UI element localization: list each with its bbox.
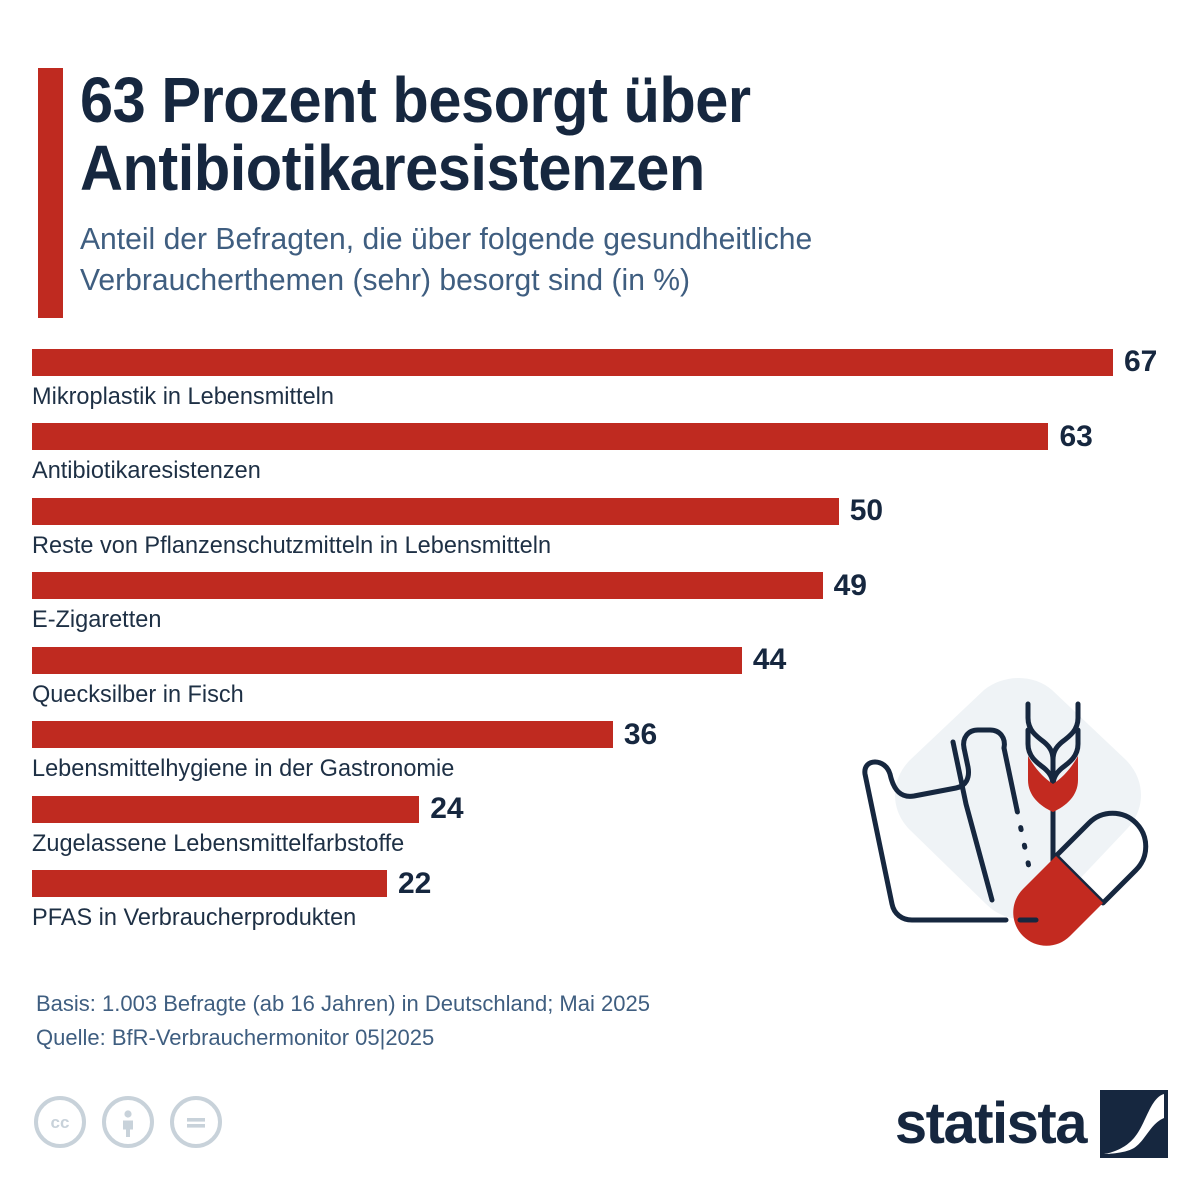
bar-category-label: Antibiotikaresistenzen bbox=[32, 458, 1149, 484]
bar-row: 24 Zugelassene Lebensmittelfarbstoffe bbox=[32, 796, 1172, 871]
attribution-icon[interactable] bbox=[102, 1096, 154, 1148]
bar-value: 63 bbox=[1059, 422, 1092, 452]
bar-category-label: Mikroplastik in Lebensmitteln bbox=[32, 384, 1149, 410]
bar-row: 50 Reste von Pflanzenschutzmitteln in Le… bbox=[32, 498, 1172, 573]
creative-commons-icon[interactable]: cc bbox=[34, 1096, 86, 1148]
bar-fill bbox=[32, 423, 1048, 450]
header-text-block: 63 Prozent besorgt über Antibiotikaresis… bbox=[80, 66, 1160, 301]
bar-fill bbox=[32, 796, 419, 823]
statista-logo-mark bbox=[1100, 1090, 1168, 1158]
source-note: Quelle: BfR-Verbrauchermonitor 05|2025 bbox=[36, 1021, 1200, 1055]
bar-row: 22 PFAS in Verbraucherprodukten bbox=[32, 870, 1172, 945]
bar-value: 50 bbox=[850, 496, 883, 526]
bar-chart: 67 Mikroplastik in Lebensmitteln 63 Anti… bbox=[32, 349, 1172, 945]
bar-track: 24 bbox=[32, 796, 1172, 823]
bar-row: 44 Quecksilber in Fisch bbox=[32, 647, 1172, 722]
bar-category-label: Quecksilber in Fisch bbox=[32, 682, 1149, 708]
basis-note: Basis: 1.003 Befragte (ab 16 Jahren) in … bbox=[36, 987, 1200, 1021]
bar-track: 44 bbox=[32, 647, 1172, 674]
bar-row: 49 E-Zigaretten bbox=[32, 572, 1172, 647]
bar-fill bbox=[32, 572, 823, 599]
license-badges: cc bbox=[34, 1096, 222, 1148]
bottom-bar: cc statista bbox=[0, 1082, 1200, 1178]
bar-category-label: PFAS in Verbraucherprodukten bbox=[32, 905, 1149, 931]
bar-value: 44 bbox=[753, 645, 786, 675]
footnotes: Basis: 1.003 Befragte (ab 16 Jahren) in … bbox=[36, 987, 1200, 1055]
bar-track: 63 bbox=[32, 423, 1172, 450]
bar-track: 49 bbox=[32, 572, 1172, 599]
bar-value: 22 bbox=[398, 869, 431, 899]
bar-fill bbox=[32, 721, 613, 748]
statista-logo[interactable]: statista bbox=[895, 1090, 1168, 1158]
bar-track: 67 bbox=[32, 349, 1172, 376]
bar-row: 36 Lebensmittelhygiene in der Gastronomi… bbox=[32, 721, 1172, 796]
bar-value: 49 bbox=[834, 571, 867, 601]
bar-track: 36 bbox=[32, 721, 1172, 748]
no-derivatives-icon[interactable] bbox=[170, 1096, 222, 1148]
bar-fill bbox=[32, 647, 742, 674]
bar-value: 67 bbox=[1124, 347, 1157, 377]
bar-category-label: Zugelassene Lebensmittelfarbstoffe bbox=[32, 831, 1149, 857]
bar-category-label: E-Zigaretten bbox=[32, 607, 1149, 633]
bar-row: 67 Mikroplastik in Lebensmitteln bbox=[32, 349, 1172, 424]
bar-category-label: Lebensmittelhygiene in der Gastronomie bbox=[32, 756, 1149, 782]
bar-fill bbox=[32, 349, 1113, 376]
bar-row: 63 Antibiotikaresistenzen bbox=[32, 423, 1172, 498]
statista-wordmark: statista bbox=[895, 1095, 1086, 1153]
bar-track: 22 bbox=[32, 870, 1172, 897]
page-subtitle: Anteil der Befragten, die über folgende … bbox=[80, 219, 1128, 301]
header: 63 Prozent besorgt über Antibiotikaresis… bbox=[0, 0, 1200, 301]
bar-value: 24 bbox=[430, 794, 463, 824]
bar-category-label: Reste von Pflanzenschutzmitteln in Leben… bbox=[32, 533, 1149, 559]
bar-track: 50 bbox=[32, 498, 1172, 525]
bar-value: 36 bbox=[624, 720, 657, 750]
page-title: 63 Prozent besorgt über Antibiotikaresis… bbox=[80, 66, 1084, 203]
bar-fill bbox=[32, 870, 387, 897]
svg-text:cc: cc bbox=[51, 1113, 70, 1132]
red-accent-bar bbox=[38, 68, 63, 318]
bar-fill bbox=[32, 498, 839, 525]
